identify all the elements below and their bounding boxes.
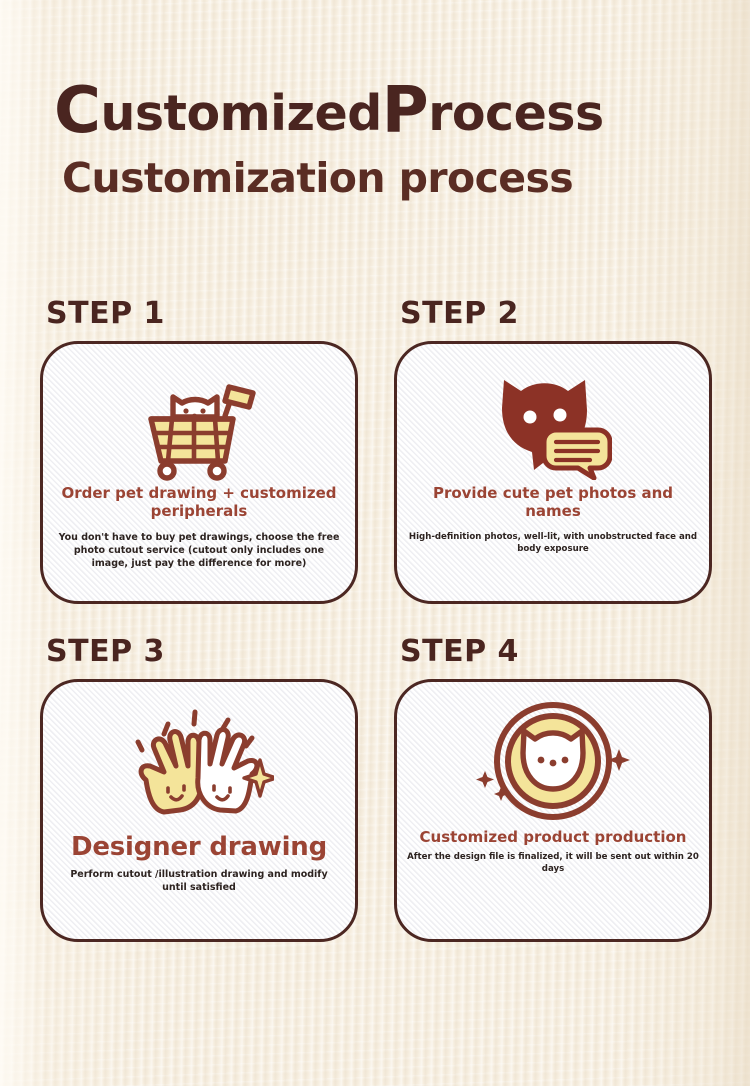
steps-grid: STEP 1 bbox=[40, 296, 712, 942]
title-capital-p: P bbox=[382, 74, 428, 148]
step-label-2: STEP 2 bbox=[394, 296, 712, 331]
step-title-3: Designer drawing bbox=[61, 832, 337, 863]
step-title-1: Order pet drawing + customized periphera… bbox=[43, 484, 355, 520]
step-card-body-3[interactable]: Designer drawing Perform cutout /illustr… bbox=[40, 679, 358, 942]
step-card-3: STEP 3 bbox=[40, 634, 358, 942]
step-card-1: STEP 1 bbox=[40, 296, 358, 604]
page-title: CustomizedProcess bbox=[0, 86, 750, 138]
step-label-1: STEP 1 bbox=[40, 296, 358, 331]
cat-in-shopping-cart-icon bbox=[141, 366, 257, 484]
step-card-body-4[interactable]: Customized product production After the … bbox=[394, 679, 712, 942]
cat-medal-badge-icon bbox=[469, 696, 637, 828]
high-five-hands-icon bbox=[124, 696, 274, 828]
step-label-4: STEP 4 bbox=[394, 634, 712, 669]
step-card-body-2[interactable]: Provide cute pet photos and names High-d… bbox=[394, 341, 712, 604]
step-card-4: STEP 4 bbox=[394, 634, 712, 942]
title-word-customized: ustomized bbox=[100, 85, 381, 142]
title-capital-c: C bbox=[54, 74, 100, 148]
step-title-2: Provide cute pet photos and names bbox=[397, 484, 709, 520]
step-description-1: You don't have to buy pet drawings, choo… bbox=[43, 532, 355, 570]
page-subtitle: Customization process bbox=[0, 154, 750, 202]
step-description-3: Perform cutout /illustration drawing and… bbox=[43, 869, 355, 895]
step-description-4: After the design file is finalized, it w… bbox=[397, 852, 709, 875]
step-label-3: STEP 3 bbox=[40, 634, 358, 669]
cat-with-speech-bubble-icon bbox=[494, 366, 612, 484]
step-title-4: Customized product production bbox=[410, 828, 697, 846]
step-card-2: STEP 2 Provide cute pet photos bbox=[394, 296, 712, 604]
step-card-body-1[interactable]: Order pet drawing + customized periphera… bbox=[40, 341, 358, 604]
step-description-2: High-definition photos, well-lit, with u… bbox=[397, 532, 709, 555]
page-header: CustomizedProcess Customization process bbox=[0, 86, 750, 202]
title-word-process: rocess bbox=[428, 85, 603, 142]
